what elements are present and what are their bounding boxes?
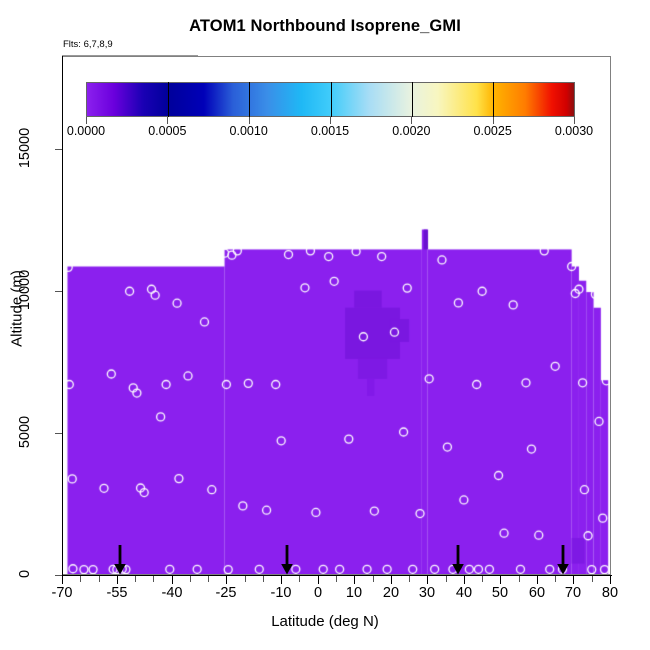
x-tick [299,576,300,582]
colorbar-separator-1 [249,82,250,117]
x-tick [427,576,428,584]
colorbar-tick-label: 0.0010 [230,124,268,138]
colorbar-tick-label: 0.0015 [311,124,349,138]
y-tick [55,575,62,576]
colorbar-tick-label: 0.0030 [555,124,593,138]
x-tick-label: 30 [419,585,435,601]
x-tick-label: -55 [107,585,128,601]
x-tick-label: -25 [216,585,237,601]
colorbar-tick [249,117,250,124]
colorbar-separator-2 [331,82,332,117]
colorbar-separator-3 [412,82,413,117]
x-tick-label: 10 [346,585,362,601]
x-tick [391,576,392,584]
colorbar-tick [167,117,168,124]
x-tick [190,576,191,582]
x-tick [573,576,574,584]
y-axis-title: Altitude (m) [9,239,26,379]
y-tick [55,149,62,150]
x-tick [117,576,118,584]
x-tick [208,576,209,582]
y-axis-line [62,56,63,576]
plot-root: ATOM1 Northbound Isoprene_GMI Flts: 6,7,… [0,0,650,650]
colorbar-tick [411,117,412,124]
x-tick [354,576,355,584]
flight-marker-1-arrow-icon [113,545,127,575]
colorbar-tick [86,117,87,124]
x-tick-label: 40 [456,585,472,601]
x-tick [610,576,611,584]
x-tick-label: -70 [52,585,73,601]
x-tick [464,576,465,584]
colorbar-tick [330,117,331,124]
x-tick [281,576,282,584]
flight-marker-4-arrow-icon [556,545,570,575]
colorbar-separator-4 [493,82,494,117]
x-tick-label: 0 [314,585,322,601]
colorbar-tick [574,117,575,124]
x-tick [80,576,81,582]
x-tick-label: 80 [602,585,618,601]
y-tick-label: 5000 [17,407,33,457]
x-tick [519,576,520,582]
x-tick [318,576,319,584]
x-tick [226,576,227,584]
colorbar-tick-label: 0.0005 [148,124,186,138]
x-tick [336,576,337,582]
x-tick [99,576,100,582]
x-tick [172,576,173,584]
x-tick [482,576,483,582]
colorbar-separator-0 [168,82,169,117]
colorbar-tick-label: 0.0020 [392,124,430,138]
x-tick [373,576,374,582]
page-title: ATOM1 Northbound Isoprene_GMI [0,17,650,36]
flight-marker-2-arrow-icon [280,545,294,575]
x-tick [153,576,154,582]
colorbar-tick-label: 0.0025 [474,124,512,138]
x-tick-label: 20 [383,585,399,601]
x-tick [245,576,246,582]
colorbar-tick-label: 0.0000 [67,124,105,138]
x-tick [592,576,593,582]
x-tick [409,576,410,582]
x-tick-label: 70 [565,585,581,601]
flights-annotation: Flts: 6,7,8,9 [63,39,113,50]
x-tick [555,576,556,582]
x-tick [135,576,136,582]
y-tick [55,433,62,434]
x-tick [263,576,264,582]
flight-marker-3-arrow-icon [451,545,465,575]
x-tick [500,576,501,584]
x-tick-label: -10 [271,585,292,601]
colorbar-tick [493,117,494,124]
y-tick [55,291,62,292]
x-tick-label: 60 [529,585,545,601]
x-tick-label: 50 [492,585,508,601]
x-tick-label: -40 [162,585,183,601]
y-tick-label: 15000 [17,123,33,173]
x-axis-line [62,575,612,576]
x-tick [62,576,63,584]
x-tick [446,576,447,582]
x-tick [537,576,538,584]
y-tick-label: 0 [17,549,33,599]
colorbar [86,82,575,117]
x-axis-title: Latitude (deg N) [0,613,650,630]
